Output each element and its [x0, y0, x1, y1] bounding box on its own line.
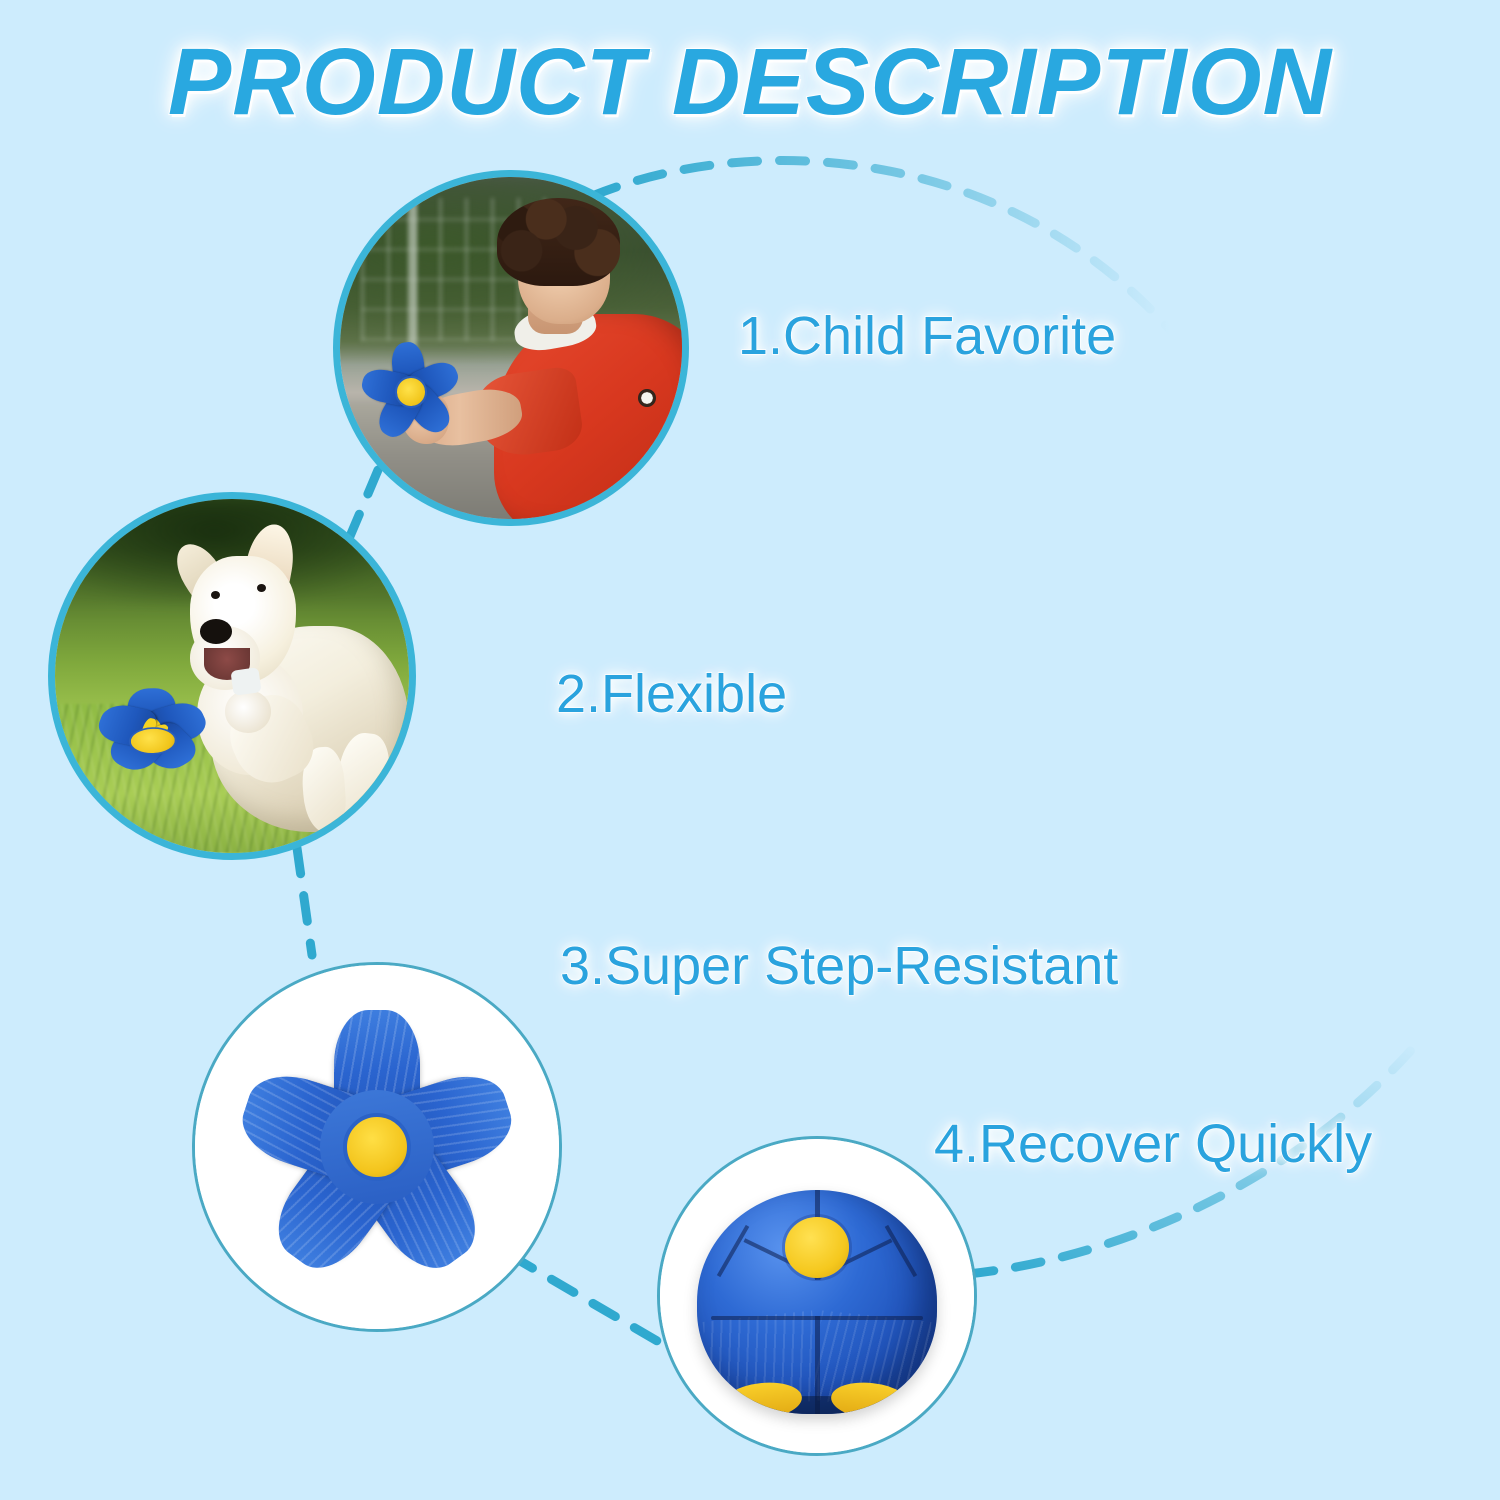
step-1-image-circle: [333, 170, 689, 526]
step-2-image-circle: [48, 492, 416, 860]
step-4-image-circle: [657, 1136, 977, 1456]
flat-disc-product: [234, 1004, 520, 1290]
dome-ball-product: [697, 1190, 937, 1414]
step-3-image-circle: [192, 962, 562, 1332]
flying-disc-ball-toy: [71, 697, 234, 795]
step-4-label: 4.Recover Quickly: [934, 1113, 1372, 1175]
boy-throwing-flying-disc-ball-photo: [340, 177, 682, 519]
dome-ball-form-product-photo: [660, 1139, 974, 1453]
flying-disc-ball-toy: [352, 332, 471, 451]
step-3-label: 3.Super Step-Resistant: [560, 935, 1118, 997]
flat-disc-form-product-photo: [195, 965, 559, 1329]
page-title: PRODUCT DESCRIPTION: [0, 28, 1500, 137]
connector-2-to-3: [297, 848, 312, 955]
step-2-label: 2.Flexible: [556, 663, 787, 725]
infographic-page: PRODUCT DESCRIPTION: [0, 0, 1500, 1500]
step-1-label: 1.Child Favorite: [738, 305, 1116, 367]
dog-running-with-flying-disc-ball-photo: [55, 499, 409, 853]
